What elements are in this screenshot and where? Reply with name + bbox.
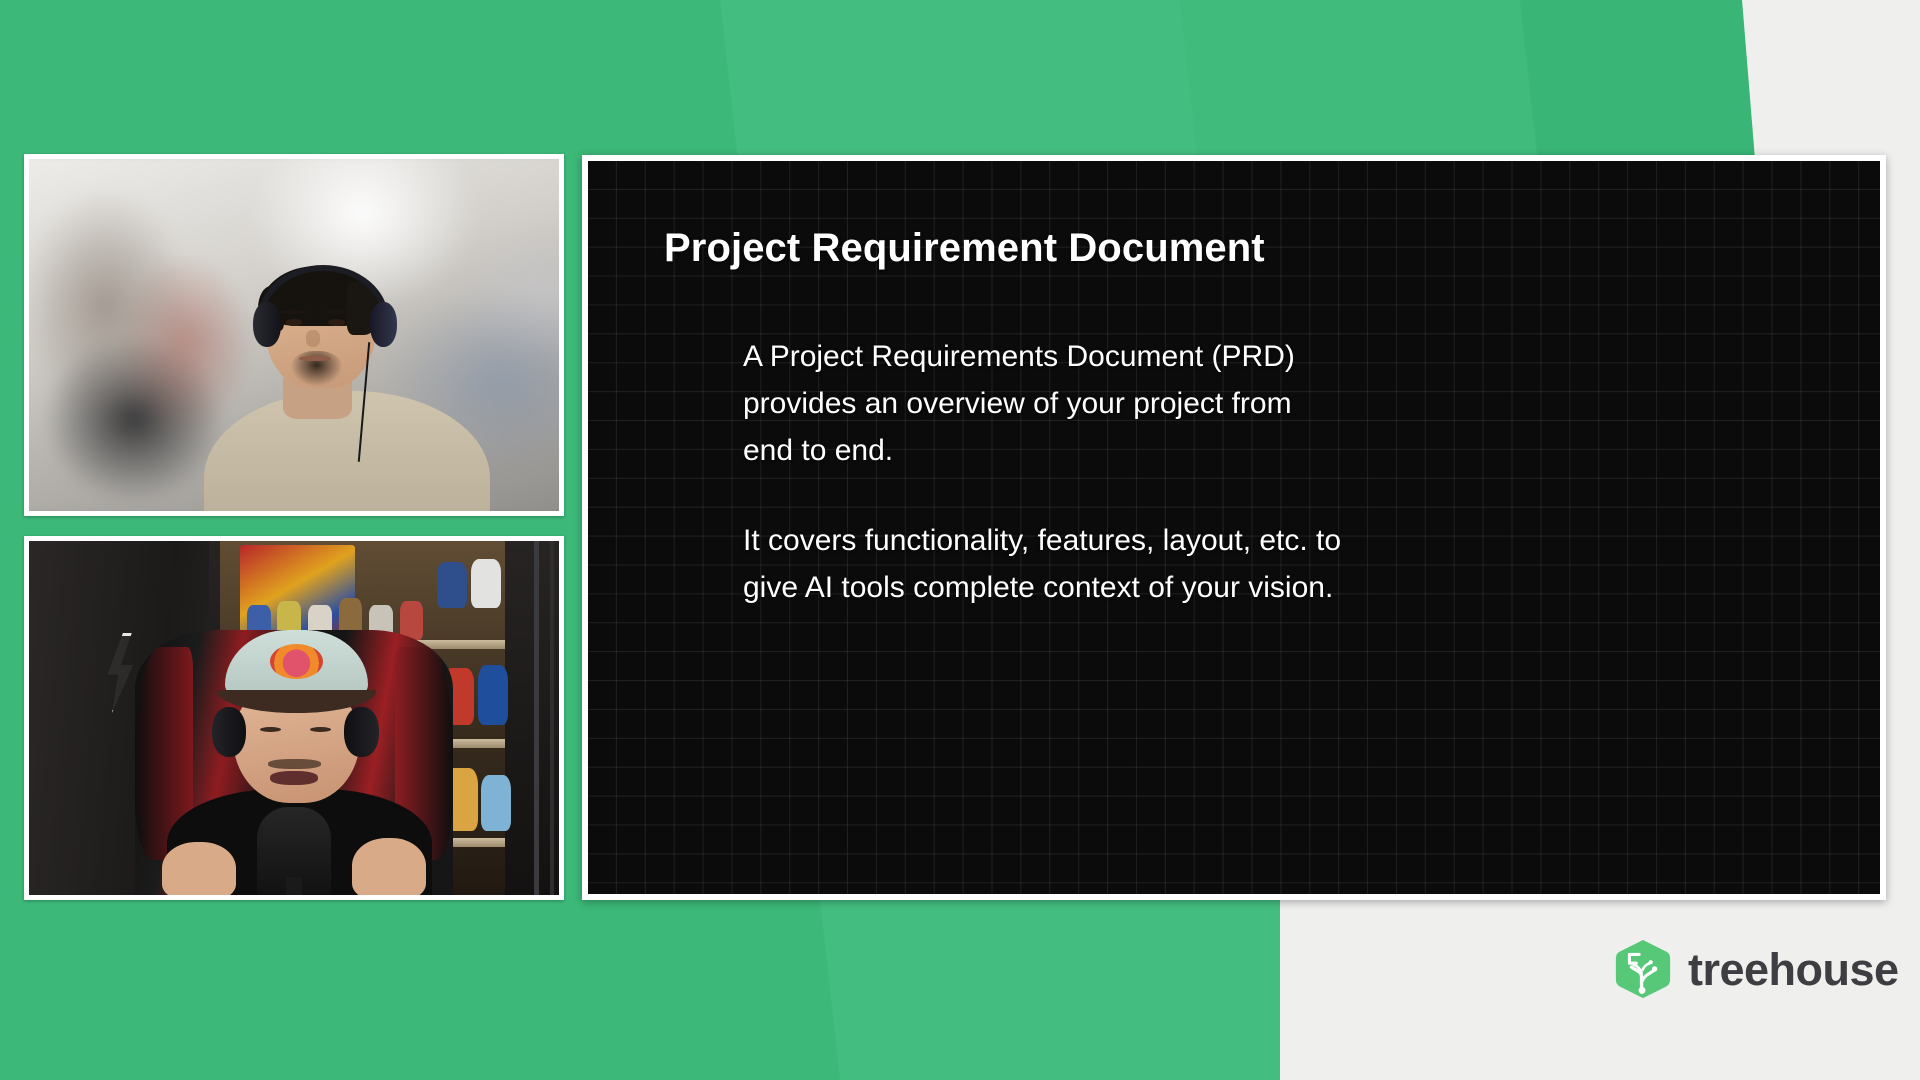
participant-top-nose [306, 330, 321, 348]
slide-body: A Project Requirements Document (PRD) pr… [743, 333, 1623, 611]
participant-bottom-mouth [270, 771, 318, 785]
presentation-stage: Project Requirement Document A Project R… [0, 0, 1920, 1080]
shelf-rail-inner [534, 541, 539, 895]
slide-canvas: Project Requirement Document A Project R… [588, 161, 1880, 894]
participant-top-person [29, 159, 559, 511]
collectible-figure [478, 665, 509, 725]
microphone-stand [286, 877, 302, 895]
participant-video-frame-top [29, 159, 559, 511]
slide-paragraph-1: A Project Requirements Document (PRD) pr… [743, 333, 1623, 474]
participant-top-headphone-cup-left [253, 302, 282, 348]
slide-paragraph-2: It covers functionality, features, layou… [743, 517, 1623, 611]
collectible-figure [437, 562, 468, 608]
treehouse-hexagon-tree-logo-icon [1612, 938, 1674, 1000]
participant-video-frame-bottom [29, 541, 559, 895]
participant-bottom-headphone-cup-right [344, 707, 378, 757]
participant-bottom-headphone-cup-left [212, 707, 246, 757]
participant-bottom-hand-left [162, 842, 236, 895]
participant-video-tile-bottom[interactable] [24, 536, 564, 900]
treehouse-wordmark: treehouse [1688, 947, 1899, 992]
participant-bottom-mustache [268, 759, 321, 770]
shelf-rail-outer [550, 541, 554, 895]
slide-title: Project Requirement Document [664, 226, 1265, 271]
slide-frame[interactable]: Project Requirement Document A Project R… [582, 155, 1886, 900]
participant-bottom-hand-right [352, 838, 426, 895]
miami-heat-cap-logo [270, 644, 323, 679]
participant-bottom-eye-left [260, 727, 281, 732]
collectible-figure [481, 775, 512, 832]
participant-top-mouth [299, 356, 331, 361]
treehouse-logo: treehouse [1612, 938, 1899, 1000]
collectible-figure [471, 559, 502, 609]
participant-top-headphone-cup-right [370, 302, 398, 348]
participant-video-tile-top[interactable] [24, 154, 564, 516]
participant-bottom-eye-right [310, 727, 331, 732]
